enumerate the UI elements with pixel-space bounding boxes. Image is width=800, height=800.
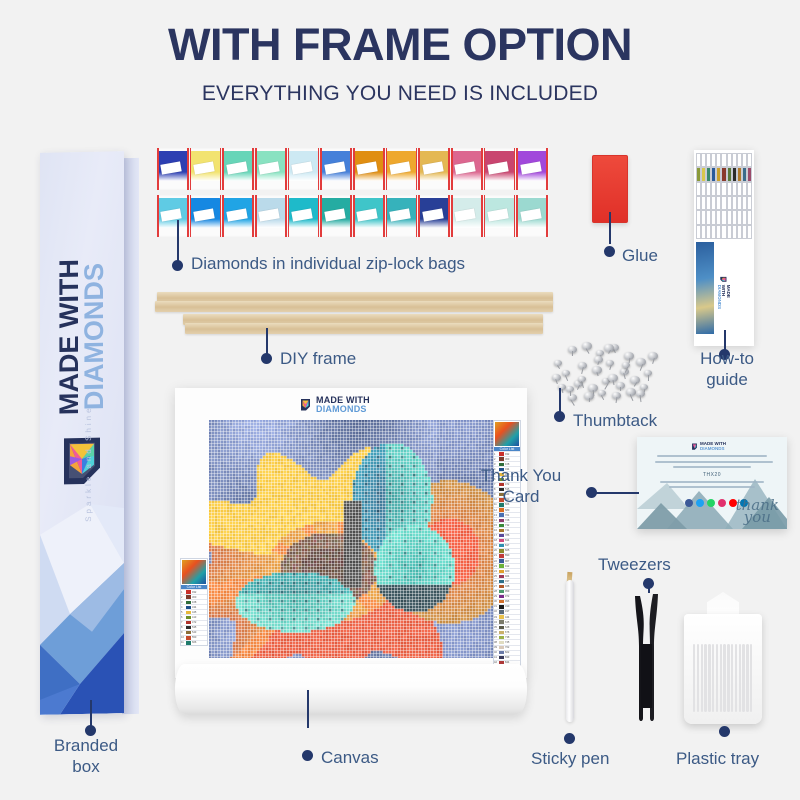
label-tweezers: Tweezers xyxy=(598,554,671,575)
guide-table-cell xyxy=(747,210,752,224)
tray-rib xyxy=(720,644,722,712)
box-tagline: Sparkle and Shine xyxy=(84,332,93,522)
tray-rib xyxy=(716,644,718,712)
thumbtack-pin xyxy=(616,397,618,403)
legend-thumbnail xyxy=(495,422,519,446)
thank-you-logo-line2: DIAMONDS xyxy=(700,447,726,452)
label-pen: Sticky pen xyxy=(531,748,609,769)
guide-brand-logo: MADE WITH DIAMONDS xyxy=(717,276,731,310)
leader-bags xyxy=(177,220,179,262)
leader-guide xyxy=(724,330,726,350)
zip-lock-bag xyxy=(451,148,483,190)
leader-thankyou xyxy=(595,492,639,494)
tray-rib xyxy=(739,644,741,712)
zip-lock-bag xyxy=(255,148,287,190)
box-brand-name: MADE WITH DIAMONDS xyxy=(57,156,107,517)
label-thumbtack: Thumbtack xyxy=(573,410,657,431)
dot-thumbtack xyxy=(554,411,565,422)
infographic-canvas: WITH FRAME OPTION EVERYTHING YOU NEED IS… xyxy=(0,0,800,800)
label-canvas: Canvas xyxy=(321,747,379,768)
thumbtack-pin xyxy=(612,380,614,385)
zip-lock-bag xyxy=(157,148,189,190)
legend-thumbnail xyxy=(182,560,206,584)
thumbtack-pin xyxy=(561,389,563,393)
tweezers xyxy=(626,588,666,726)
tray-rib xyxy=(731,644,733,712)
bag-row-1 xyxy=(157,148,549,190)
zip-lock-bag xyxy=(516,195,548,237)
dot-pen xyxy=(564,733,575,744)
zip-lock-bag xyxy=(516,148,548,190)
thumbtack-pin xyxy=(648,375,649,381)
guide-table-cell xyxy=(747,225,752,239)
guide-color-table xyxy=(696,153,752,239)
dot-canvas xyxy=(302,750,313,761)
canvas-artwork xyxy=(209,420,493,658)
page-title: WITH FRAME OPTION xyxy=(0,22,800,67)
zip-lock-bag xyxy=(484,195,516,237)
social-icon[interactable] xyxy=(707,499,715,507)
tray-rib xyxy=(723,644,725,712)
label-thankyou: Thank You Card xyxy=(462,465,580,508)
zip-lock-bag xyxy=(320,195,352,237)
leader-canvas xyxy=(307,690,309,728)
page-subtitle: EVERYTHING YOU NEED IS INCLUDED xyxy=(0,83,800,104)
zip-lock-bag xyxy=(418,148,450,190)
label-frame: DIY frame xyxy=(280,348,356,369)
zip-lock-bags-group xyxy=(157,148,549,242)
thumbtack-pin xyxy=(620,387,622,391)
zip-lock-bag xyxy=(451,195,483,237)
tray-rib xyxy=(693,644,695,712)
zip-lock-bag xyxy=(353,148,385,190)
guide-table-cell xyxy=(747,167,752,181)
tray-rib xyxy=(750,644,752,712)
tray-rib xyxy=(701,644,703,712)
thumbtack-pin xyxy=(577,385,580,390)
social-icon[interactable] xyxy=(685,499,693,507)
zip-lock-bag xyxy=(484,148,516,190)
label-box: Branded box xyxy=(30,735,142,778)
social-icon[interactable] xyxy=(718,499,726,507)
zip-lock-bag xyxy=(386,195,418,237)
guide-cover-photo xyxy=(696,242,714,334)
thumbtack-pin xyxy=(588,398,590,402)
color-legend-left: Color List193223003168443454456413747285… xyxy=(180,558,208,646)
plastic-tray xyxy=(684,592,762,724)
how-to-guide-booklet: MADE WITH DIAMONDS xyxy=(694,150,754,346)
tray-rib xyxy=(704,644,706,712)
guide-logo-line1: MADE WITH xyxy=(721,285,730,310)
zip-lock-bag xyxy=(222,148,254,190)
sticky-pen xyxy=(566,580,574,722)
leader-glue xyxy=(609,212,611,244)
leader-thumbtack xyxy=(559,388,561,412)
tray-rib xyxy=(697,644,699,712)
dot-tray xyxy=(719,726,730,737)
thank-you-script: thank you xyxy=(736,499,779,525)
thumbtack-pile xyxy=(548,340,668,400)
diy-frame-slats xyxy=(155,292,555,336)
guide-logo-icon xyxy=(720,276,727,283)
label-bags: Diamonds in individual zip-lock bags xyxy=(191,253,465,274)
thumbtack-pin xyxy=(572,351,574,356)
dot-thankyou xyxy=(586,487,597,498)
tray-rib xyxy=(708,644,710,712)
thumbtack-pin xyxy=(597,361,600,365)
zip-lock-bag xyxy=(288,148,320,190)
thank-you-brand-logo: MADE WITH DIAMONDS xyxy=(691,442,726,451)
color-legend-right: Color List193223003168443454456413747285… xyxy=(493,420,521,676)
thank-you-card: MADE WITH DIAMONDS THX20 thank you xyxy=(637,437,787,529)
tray-rib xyxy=(735,644,737,712)
guide-table-cell xyxy=(747,182,752,196)
box-side-panel xyxy=(122,158,139,714)
thumbtack-pin xyxy=(569,391,571,396)
thank-you-promo-code: THX20 xyxy=(655,472,769,478)
canvas-brand-logo: MADE WITH DIAMONDS xyxy=(299,396,370,413)
social-icon[interactable] xyxy=(696,499,704,507)
tray-rib xyxy=(712,644,714,712)
zip-lock-bag xyxy=(190,148,222,190)
guide-logo-line2: DIAMONDS xyxy=(717,285,722,310)
dot-glue xyxy=(604,246,615,257)
zip-lock-bag xyxy=(288,195,320,237)
dot-bags xyxy=(172,260,183,271)
canvas-logo-line2: DIAMONDS xyxy=(316,405,370,414)
box-front-panel: MADE WITH DIAMONDS Sparkle and Shine xyxy=(40,151,124,715)
guide-table-cell xyxy=(747,196,752,210)
bag-row-2 xyxy=(157,195,549,237)
thank-you-message: THX20 xyxy=(655,455,769,492)
thank-you-logo-icon xyxy=(691,443,698,450)
label-glue: Glue xyxy=(622,245,658,266)
zip-lock-bag xyxy=(353,195,385,237)
tray-body xyxy=(684,614,762,724)
zip-lock-bag xyxy=(190,195,222,237)
canvas-logo-icon xyxy=(299,398,312,411)
canvas-print: MADE WITH DIAMONDS Color List19322300316… xyxy=(175,388,527,678)
dot-tweezers xyxy=(643,578,654,589)
tray-rib xyxy=(746,644,748,712)
leader-box xyxy=(90,700,92,726)
thumbtack-pin xyxy=(581,367,584,374)
legend-row: 11666 xyxy=(181,640,207,645)
tray-rib xyxy=(727,644,729,712)
zip-lock-bag xyxy=(320,148,352,190)
label-guide: How-to guide xyxy=(694,348,760,391)
label-tray: Plastic tray xyxy=(676,748,759,769)
guide-table-cell xyxy=(747,153,752,167)
zip-lock-bag xyxy=(418,195,450,237)
zip-lock-bag xyxy=(157,195,189,237)
zip-lock-bag xyxy=(222,195,254,237)
zip-lock-bag xyxy=(255,195,287,237)
canvas-roll xyxy=(175,664,527,714)
zip-lock-bag xyxy=(386,148,418,190)
thumbtack-pin xyxy=(596,372,599,376)
branded-box: MADE WITH DIAMONDS Sparkle and Shine xyxy=(32,152,142,722)
leader-frame xyxy=(266,328,268,355)
dot-frame xyxy=(261,353,272,364)
tray-rib xyxy=(742,644,744,712)
